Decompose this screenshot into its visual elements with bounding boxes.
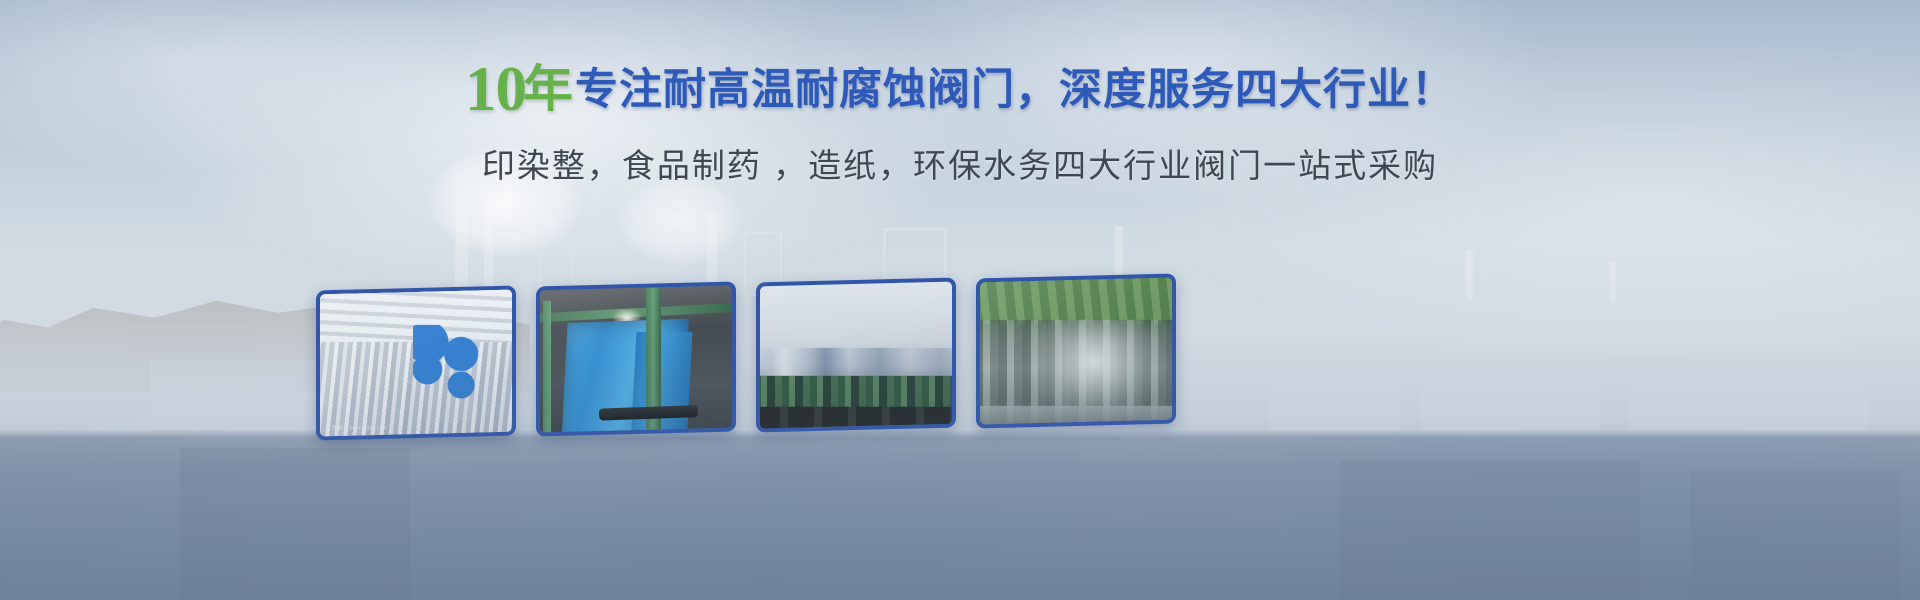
machine-frame-left bbox=[543, 300, 552, 436]
foreground-structure-1 bbox=[180, 448, 410, 600]
foreground-structure-2 bbox=[1340, 460, 1640, 600]
background-chimney-5 bbox=[1466, 250, 1473, 300]
background-chimney-6 bbox=[1610, 262, 1616, 302]
stainless-process-skid-image bbox=[316, 285, 516, 440]
textile-dyeing-line-image bbox=[536, 281, 736, 436]
headline: 10年专注耐高温耐腐蚀阀门，深度服务四大行业！ bbox=[0, 58, 1920, 121]
foreground-structure-3 bbox=[1690, 470, 1900, 600]
banner-text-block: 10年专注耐高温耐腐蚀阀门，深度服务四大行业！ 印染整，食品制药 ，造纸，环保水… bbox=[0, 58, 1920, 187]
process-tanks bbox=[756, 407, 956, 433]
photo-watermark: 上海阀门 www.valve.com bbox=[326, 425, 387, 432]
rooftop-water-treatment-image bbox=[756, 277, 956, 432]
subheadline: 印染整，食品制药 ，造纸，环保水务四大行业阀门一站式采购 bbox=[0, 139, 1920, 187]
paper-mill-hall-image bbox=[976, 273, 1176, 428]
promo-banner: 10年专注耐高温耐腐蚀阀门，深度服务四大行业！ 印染整，食品制药 ，造纸，环保水… bbox=[0, 0, 1920, 600]
photo-card-row: 上海阀门 www.valve.com bbox=[316, 286, 1216, 446]
background-building-2 bbox=[1270, 372, 1400, 430]
blue-fabric-sheet-2 bbox=[630, 331, 693, 436]
photo-card-paper-mill-hall[interactable] bbox=[976, 273, 1176, 428]
green-roof bbox=[976, 273, 1176, 323]
photo-card-stainless-process-skid[interactable]: 上海阀门 www.valve.com bbox=[316, 285, 516, 440]
background-building-3 bbox=[1420, 384, 1600, 430]
background-smoke-plume-2 bbox=[620, 176, 740, 264]
photo-card-rooftop-water-treatment[interactable] bbox=[756, 277, 956, 432]
headline-main-text: 专注耐高温耐腐蚀阀门，深度服务四大行业！ bbox=[575, 66, 1455, 114]
headline-years-unit: 年 bbox=[523, 61, 573, 117]
background-building-4 bbox=[1630, 376, 1870, 430]
headline-years-number: 10 bbox=[465, 54, 526, 124]
photo-card-textile-dyeing-line[interactable] bbox=[536, 281, 736, 436]
hall-floor bbox=[976, 406, 1176, 429]
